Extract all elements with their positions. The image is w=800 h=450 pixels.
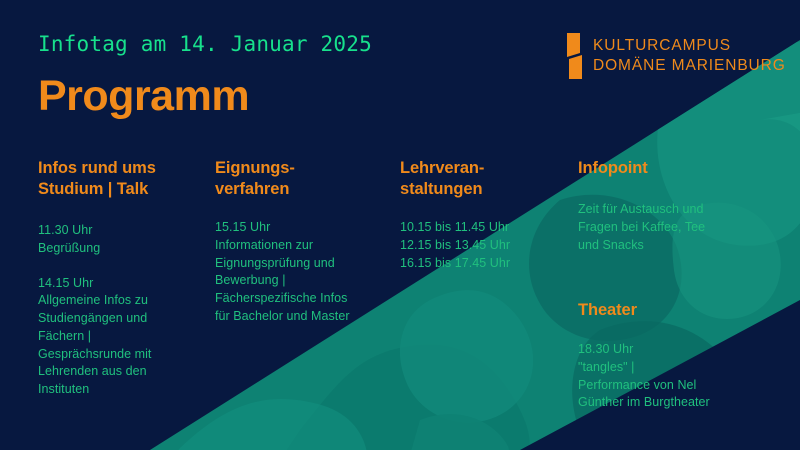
entry-text: "tangles" | <box>578 359 778 377</box>
entry-time: 12.15 bis 13.45 Uhr <box>400 237 570 255</box>
poster-canvas: Infotag am 14. Januar 2025 Programm KULT… <box>0 0 800 450</box>
logo-line-1: KULTURCAMPUS <box>593 38 786 55</box>
heading-line-2: Studium | Talk <box>38 180 148 198</box>
logo-wordmark: KULTURCAMPUS DOMÄNE MARIENBURG <box>593 38 786 74</box>
logo-line-2: DOMÄNE MARIENBURG <box>593 58 786 75</box>
entry-text: Günther im Burgtheater <box>578 394 778 412</box>
entry-text: Fragen bei Kaffee, Tee <box>578 219 778 237</box>
section-heading: Theater <box>578 300 778 321</box>
entry-item: Zeit für Austausch und Fragen bei Kaffee… <box>578 201 778 254</box>
heading-line-1: Infos rund ums <box>38 159 156 177</box>
entry-item: 10.15 bis 11.45 Uhr 12.15 bis 13.45 Uhr … <box>400 219 570 272</box>
heading-line-1: Lehrveran- <box>400 159 484 177</box>
column-heading: Infopoint <box>578 158 778 179</box>
entry-text: Eignungsprüfung und <box>215 255 395 273</box>
page-title: Programm <box>38 72 249 121</box>
column-heading: Infos rund ums Studium | Talk <box>38 158 203 200</box>
heading-line-1: Eignungs- <box>215 159 295 177</box>
column-infopoint: Infopoint Zeit für Austausch und Fragen … <box>578 158 778 254</box>
entry-time: 16.15 bis 17.45 Uhr <box>400 255 570 273</box>
entry-text: Informationen zur <box>215 237 395 255</box>
column-infos-rund-ums-studium: Infos rund ums Studium | Talk 11.30 Uhr … <box>38 158 203 399</box>
entry-time: 14.15 Uhr <box>38 275 203 293</box>
kulturcampus-mark-icon <box>566 33 583 79</box>
entry-text: Instituten <box>38 381 203 399</box>
entry-text: Lehrenden aus den <box>38 363 203 381</box>
entry-item: 11.30 Uhr Begrüßung <box>38 222 203 258</box>
column-heading: Lehrveran- staltungen <box>400 158 570 200</box>
section-theater: Theater 18.30 Uhr "tangles" | Performanc… <box>578 300 778 412</box>
entry-text: Zeit für Austausch und <box>578 201 778 219</box>
entry-item: 18.30 Uhr "tangles" | Performance von Ne… <box>578 341 778 412</box>
column-heading: Eignungs- verfahren <box>215 158 395 200</box>
entry-text: Fächern | <box>38 328 203 346</box>
entry-time: 18.30 Uhr <box>578 341 778 359</box>
column-lehrveranstaltungen: Lehrveran- staltungen 10.15 bis 11.45 Uh… <box>400 158 570 272</box>
entry-text: Bewerbung | <box>215 272 395 290</box>
heading-line-2: staltungen <box>400 180 482 198</box>
entry-text: Performance von Nel <box>578 377 778 395</box>
entry-time: 15.15 Uhr <box>215 219 395 237</box>
event-headline: Infotag am 14. Januar 2025 <box>38 32 372 56</box>
entry-text: Allgemeine Infos zu <box>38 292 203 310</box>
logo[interactable]: KULTURCAMPUS DOMÄNE MARIENBURG <box>566 33 786 79</box>
entry-text: Studiengängen und <box>38 310 203 328</box>
entry-item: 14.15 Uhr Allgemeine Infos zu Studiengän… <box>38 275 203 399</box>
heading-line-2: verfahren <box>215 180 289 198</box>
entry-time: 11.30 Uhr <box>38 222 203 240</box>
entry-text: Fächerspezifische Infos <box>215 290 395 308</box>
entry-text: Gesprächsrunde mit <box>38 346 203 364</box>
entry-time: 10.15 bis 11.45 Uhr <box>400 219 570 237</box>
entry-text: Begrüßung <box>38 240 203 258</box>
entry-item: 15.15 Uhr Informationen zur Eignungsprüf… <box>215 219 395 326</box>
column-eignungsverfahren: Eignungs- verfahren 15.15 Uhr Informatio… <box>215 158 395 326</box>
entry-text: und Snacks <box>578 237 778 255</box>
entry-text: für Bachelor und Master <box>215 308 395 326</box>
